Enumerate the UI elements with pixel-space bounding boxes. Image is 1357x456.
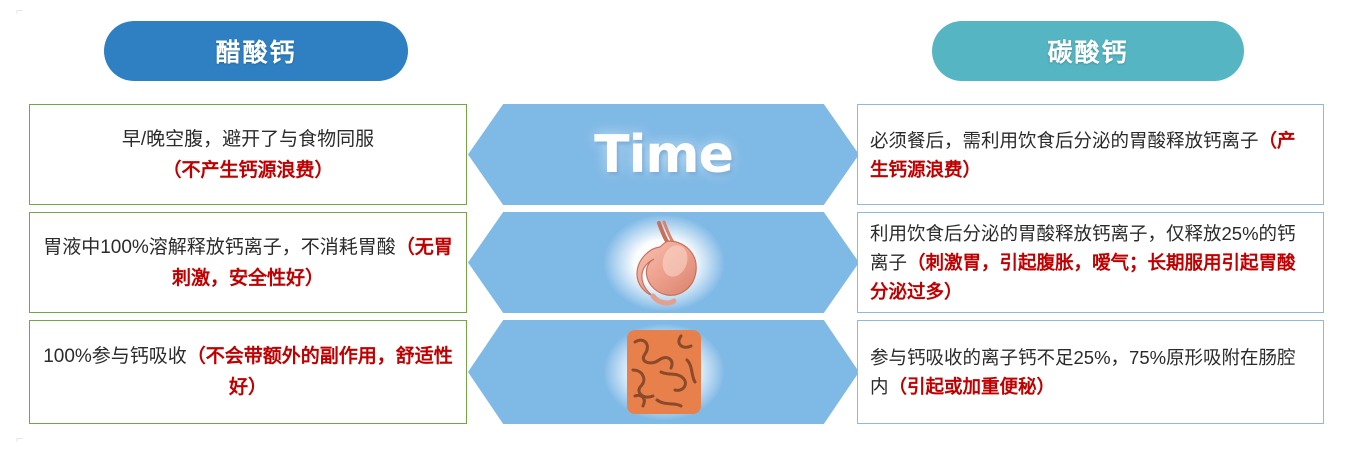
- left-row1-plain: 早/晚空腹，避开了与食物同服: [122, 129, 374, 150]
- right-column: 必须餐后，需利用饮食后分泌的胃酸释放钙离子（产生钙源浪费） 利用饮食后分泌的胃酸…: [857, 104, 1324, 424]
- left-row2-plain: 胃液中100%溶解释放钙离子，不消耗胃酸: [43, 237, 396, 258]
- header-pill-calcium-carbonate: 碳酸钙: [932, 21, 1244, 81]
- center-arrow-row2: [468, 212, 859, 313]
- crop-mark-bottom-left: ⌐: [16, 432, 30, 446]
- left-card-row2-text: 胃液中100%溶解释放钙离子，不消耗胃酸（无胃刺激，安全性好）: [42, 232, 454, 294]
- right-card-row3-text: 参与钙吸收的离子钙不足25%，75%原形吸附在肠腔内（引起或加重便秘）: [870, 343, 1311, 401]
- stomach-icon: [604, 215, 724, 311]
- center-arrow-row1: Time: [468, 104, 859, 205]
- crop-mark-top-left: ⌐: [16, 4, 30, 18]
- time-label: Time: [594, 125, 733, 185]
- right-card-row2: 利用饮食后分泌的胃酸释放钙离子，仅释放25%的钙离子（刺激胃，引起腹胀，嗳气；长…: [857, 212, 1324, 313]
- header-pill-calcium-acetate: 醋酸钙: [104, 21, 408, 81]
- center-arrow-band: Time: [468, 104, 859, 424]
- left-card-row3: 100%参与钙吸收（不会带额外的副作用，舒适性好）: [29, 320, 467, 424]
- right-card-row2-text: 利用饮食后分泌的胃酸释放钙离子，仅释放25%的钙离子（刺激胃，引起腹胀，嗳气；长…: [870, 219, 1311, 306]
- center-arrow-row3: [468, 320, 859, 424]
- left-row3-highlight: （不会带额外的副作用，舒适性好）: [187, 346, 453, 398]
- right-card-row1-text: 必须餐后，需利用饮食后分泌的胃酸释放钙离子（产生钙源浪费）: [870, 126, 1311, 184]
- right-row2-highlight: （刺激胃，引起腹胀，嗳气；长期服用引起胃酸分泌过多）: [870, 252, 1296, 302]
- right-card-row1: 必须餐后，需利用饮食后分泌的胃酸释放钙离子（产生钙源浪费）: [857, 104, 1324, 205]
- left-card-row2: 胃液中100%溶解释放钙离子，不消耗胃酸（无胃刺激，安全性好）: [29, 212, 467, 313]
- left-card-row1-text: 早/晚空腹，避开了与食物同服 （不产生钙源浪费）: [122, 124, 374, 186]
- left-card-row1: 早/晚空腹，避开了与食物同服 （不产生钙源浪费）: [29, 104, 467, 205]
- right-row3-highlight: （引起或加重便秘）: [889, 376, 1056, 397]
- left-row3-plain: 100%参与钙吸收: [43, 346, 187, 367]
- left-card-row3-text: 100%参与钙吸收（不会带额外的副作用，舒适性好）: [42, 341, 454, 403]
- right-card-row3: 参与钙吸收的离子钙不足25%，75%原形吸附在肠腔内（引起或加重便秘）: [857, 320, 1324, 424]
- intestine-icon: [604, 324, 724, 420]
- right-row1-plain: 必须餐后，需利用饮食后分泌的胃酸释放钙离子: [870, 130, 1259, 151]
- left-row1-highlight: （不产生钙源浪费）: [162, 160, 333, 181]
- left-column: 早/晚空腹，避开了与食物同服 （不产生钙源浪费） 胃液中100%溶解释放钙离子，…: [29, 104, 467, 424]
